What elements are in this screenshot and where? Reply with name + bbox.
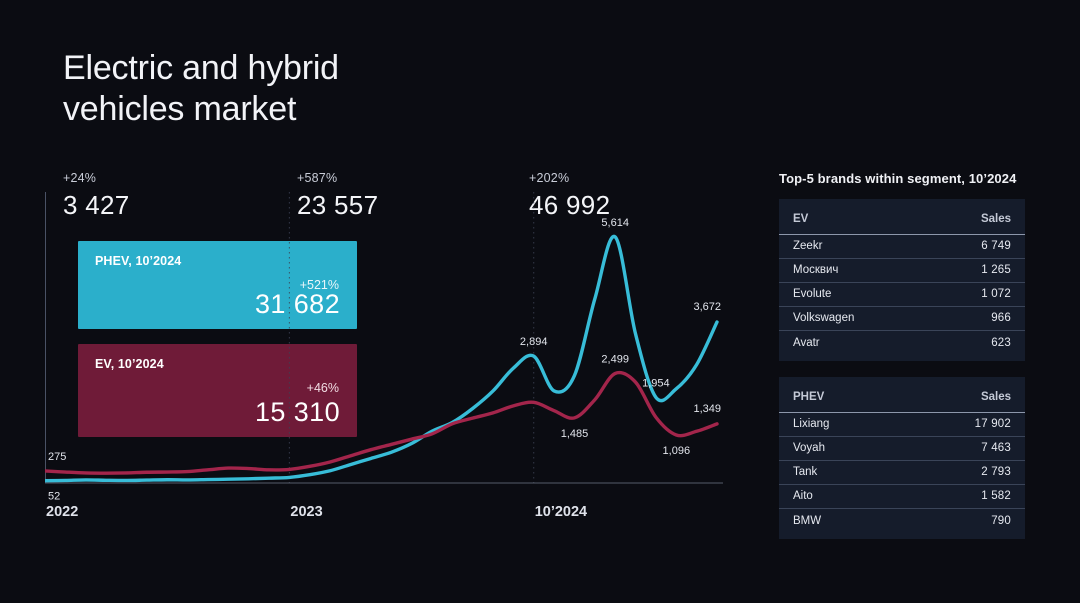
kpi-percent: +24% [63,171,130,185]
brand-name: BMW [793,515,821,527]
column-header-segment: PHEV [793,391,824,403]
brand-name: Lixiang [793,418,829,430]
table-row[interactable]: Tank2 793 [779,461,1025,485]
chart-data-label: 3,672 [693,301,721,313]
brand-name: Tank [793,466,817,478]
table-row[interactable]: Volkswagen966 [779,307,1025,331]
brand-sales: 6 749 [981,240,1011,252]
column-header-sales: Sales [981,391,1011,403]
top-brands-panel: Top-5 brands within segment, 10’2024 EVS… [779,170,1025,555]
chart-data-label: 2,499 [601,354,629,366]
table-header-row: EVSales [779,205,1025,235]
line-chart: 522,8945,6141,9543,6722751,4852,4991,096… [45,186,730,531]
chart-x-label: 2023 [290,504,322,520]
presentation-slide: Electric and hybrid vehicles market +24%… [0,0,1080,603]
table-row[interactable]: BMW790 [779,509,1025,533]
brand-sales: 1 072 [981,288,1011,300]
column-header-sales: Sales [981,213,1011,225]
chart-line-ev [45,373,717,474]
brand-name: Zeekr [793,240,822,252]
brand-sales: 7 463 [981,442,1011,454]
brand-sales: 966 [991,312,1011,324]
chart-data-label: 1,954 [642,377,670,389]
chart-x-label: 2022 [46,504,78,520]
chart-data-label: 52 [48,491,60,503]
chart-canvas: 522,8945,6141,9543,6722751,4852,4991,096… [45,186,730,531]
chart-data-label: 5,614 [601,217,629,229]
brand-name: Evolute [793,288,831,300]
table-row[interactable]: Lixiang17 902 [779,413,1025,437]
title-line-2: vehicles market [63,89,583,130]
chart-baseline [45,192,723,483]
table-row[interactable]: Voyah7 463 [779,437,1025,461]
table-row[interactable]: Zeekr6 749 [779,235,1025,259]
brand-sales: 17 902 [975,418,1011,430]
chart-data-label: 1,349 [693,403,721,415]
page-title: Electric and hybrid vehicles market [63,48,583,131]
brand-sales: 2 793 [981,466,1011,478]
table-row[interactable]: Москвич1 265 [779,259,1025,283]
brand-name: Москвич [793,264,838,276]
brand-tables: EVSalesZeekr6 749Москвич1 265Evolute1 07… [779,199,1025,539]
chart-x-label: 10’2024 [535,504,587,520]
chart-data-label: 275 [48,451,66,463]
panel-title: Top-5 brands within segment, 10’2024 [779,170,1025,189]
column-header-segment: EV [793,213,808,225]
kpi-percent: +587% [297,171,378,185]
chart-data-label: 1,096 [663,445,691,457]
chart-x-axis-labels: 2022202310’2024 [46,504,587,520]
brand-table-phev: PHEVSalesLixiang17 902Voyah7 463Tank2 79… [779,377,1025,539]
table-row[interactable]: Avatr623 [779,331,1025,355]
brand-name: Voyah [793,442,825,454]
table-row[interactable]: Evolute1 072 [779,283,1025,307]
brand-sales: 1 265 [981,264,1011,276]
brand-sales: 1 582 [981,490,1011,502]
brand-sales: 790 [991,515,1011,527]
brand-name: Volkswagen [793,312,854,324]
brand-table-ev: EVSalesZeekr6 749Москвич1 265Evolute1 07… [779,199,1025,361]
chart-data-label: 2,894 [520,336,548,348]
table-header-row: PHEVSales [779,383,1025,413]
chart-data-labels: 522,8945,6141,9543,6722751,4852,4991,096… [48,217,721,503]
chart-data-label: 1,485 [561,428,589,440]
kpi-percent: +202% [529,171,610,185]
table-row[interactable]: Aito1 582 [779,485,1025,509]
title-line-1: Electric and hybrid [63,49,339,87]
brand-name: Aito [793,490,813,502]
brand-sales: 623 [991,337,1011,349]
brand-name: Avatr [793,337,820,349]
